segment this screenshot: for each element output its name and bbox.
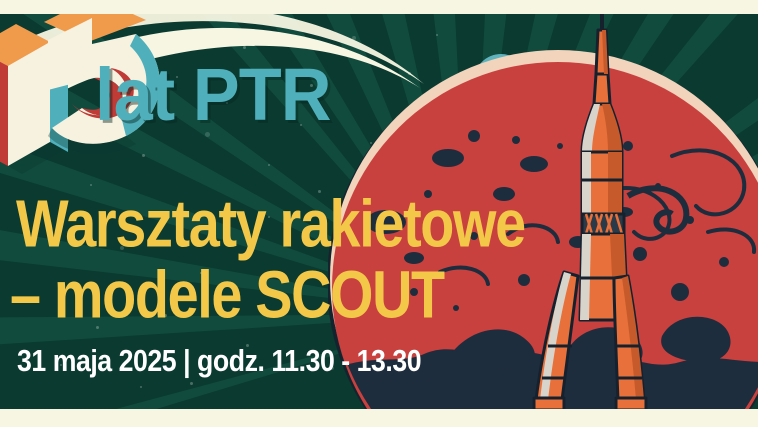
date-time-line: 31 maja 2025 | godz. 11.30 - 13.30 (17, 345, 421, 380)
poster-artboard: lat PTR Warsztaty rakietowe – modele SCO… (0, 14, 758, 409)
frame-top-border (0, 0, 758, 14)
soyuz-rocket-icon (516, 14, 656, 409)
headline-line-1: Warsztaty rakietowe (16, 186, 525, 263)
poster-copy: lat PTR Warsztaty rakietowe – modele SCO… (0, 14, 560, 409)
frame-bottom-border (0, 409, 758, 427)
event-poster: lat PTR Warsztaty rakietowe – modele SCO… (0, 0, 758, 427)
org-line: lat PTR (95, 60, 331, 130)
headline-line-2: – modele SCOUT (10, 257, 444, 334)
